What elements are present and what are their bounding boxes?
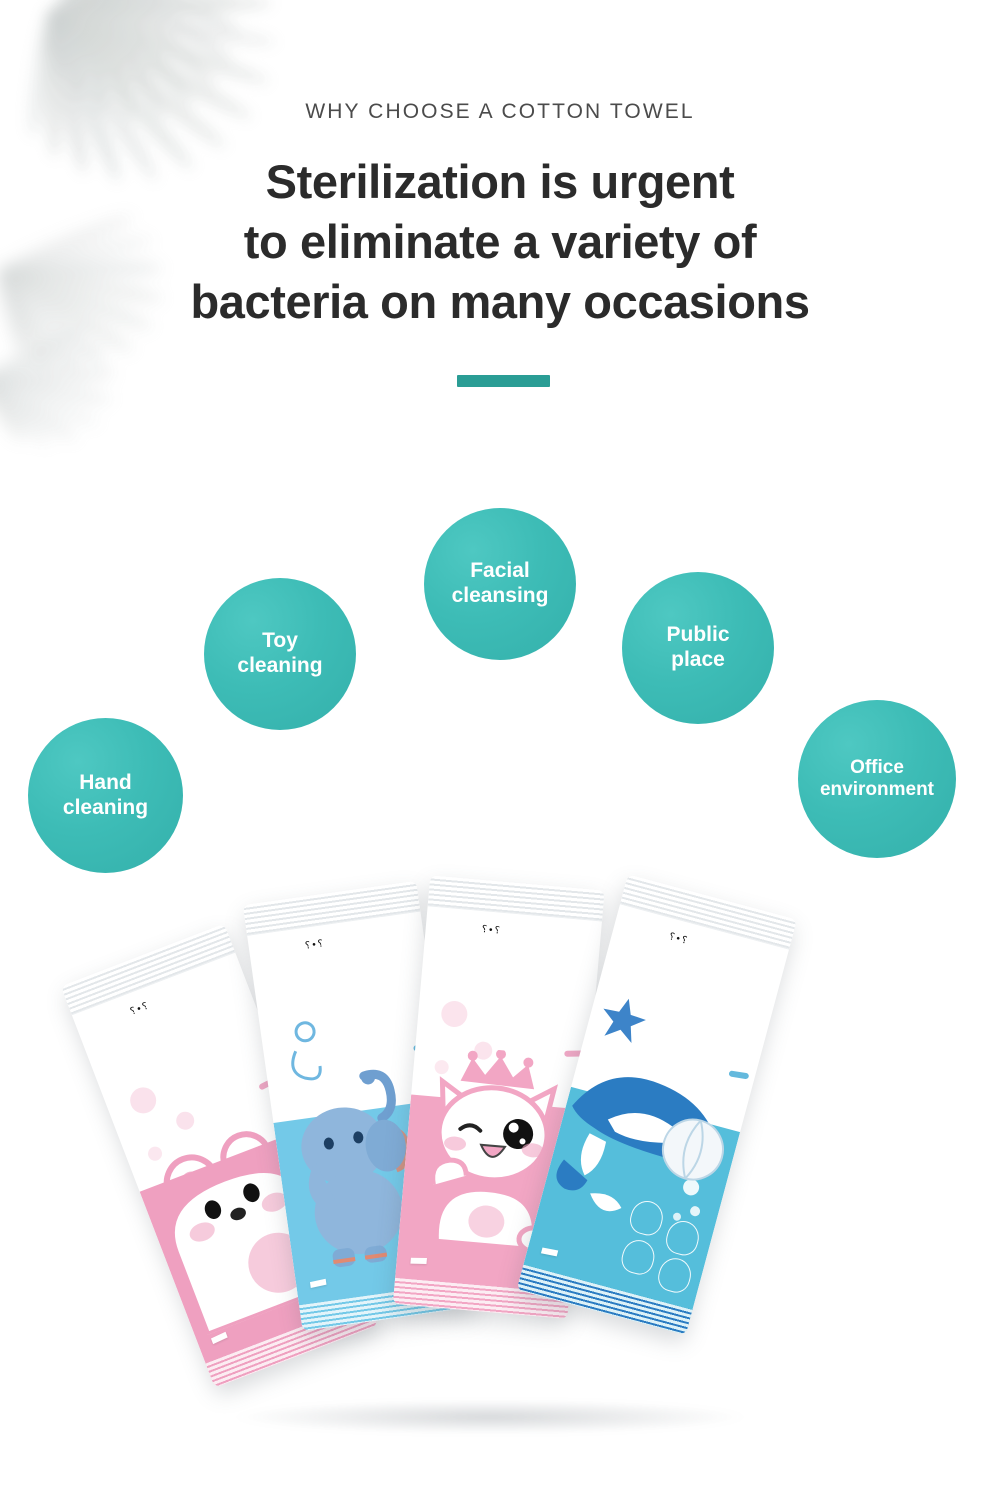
use-case-bubble-office-environment[interactable]: Office environment [798,700,956,858]
packet-series-block [306,971,420,1000]
packet-count-badge [410,1258,427,1264]
packet-crimp-top [620,874,797,949]
series-title-cn [143,1010,248,1064]
series-subtitle-en [649,986,766,1004]
use-case-label: Facial cleansing [452,559,549,609]
packet-brand-lockup: ⸮•⸮ [439,922,543,941]
series-title-en [143,1010,248,1064]
series-subtitle-en [471,979,589,981]
headline-line-3: bacteria on many occasions [0,272,1000,332]
product-packet-fan: ⸮•⸮⸮•⸮⸮•⸮⸮•⸮ [0,845,1000,1445]
packet-series-block [471,979,589,981]
series-title-en [306,971,420,1000]
brand-crown-icon: ⸮•⸮ [440,922,544,939]
use-case-label: Hand cleaning [63,771,148,821]
headline-line-2: to eliminate a variety of [0,212,1000,272]
series-title-cn [471,979,589,981]
page-title: Sterilization is urgent to eliminate a v… [0,152,1000,332]
soft-badge-icon [663,1217,703,1258]
series-subtitle-en [143,1010,248,1064]
packet-series-block [649,986,766,1004]
use-case-label: Toy cleaning [237,629,322,679]
use-case-bubble-toy-cleaning[interactable]: Toy cleaning [204,578,356,730]
use-case-bubble-public-place[interactable]: Public place [622,572,774,724]
eyebrow-text: WHY CHOOSE A COTTON TOWEL [0,100,1000,124]
packet-crimp-top [243,881,421,936]
series-title-en [471,979,589,981]
use-case-label: Office environment [820,757,934,802]
packet-brand-lockup: ⸮•⸮ [263,934,367,958]
series-subtitle-en [306,971,420,1000]
cotton-badge-icon [627,1197,667,1238]
brand-crown-icon: ⸮•⸮ [263,934,367,956]
packet-series-block [143,1010,248,1064]
title-divider [457,375,550,387]
use-case-bubble-facial-cleansing[interactable]: Facial cleansing [424,508,576,660]
series-title-cn [306,971,420,1000]
headline-line-1: Sterilization is urgent [0,152,1000,212]
use-case-label: Public place [666,623,729,673]
packet-crimp-top [428,875,605,921]
promo-page: WHY CHOOSE A COTTON TOWEL Sterilization … [0,0,1000,1505]
series-title-cn [649,986,766,1004]
series-title-en [649,986,766,1004]
